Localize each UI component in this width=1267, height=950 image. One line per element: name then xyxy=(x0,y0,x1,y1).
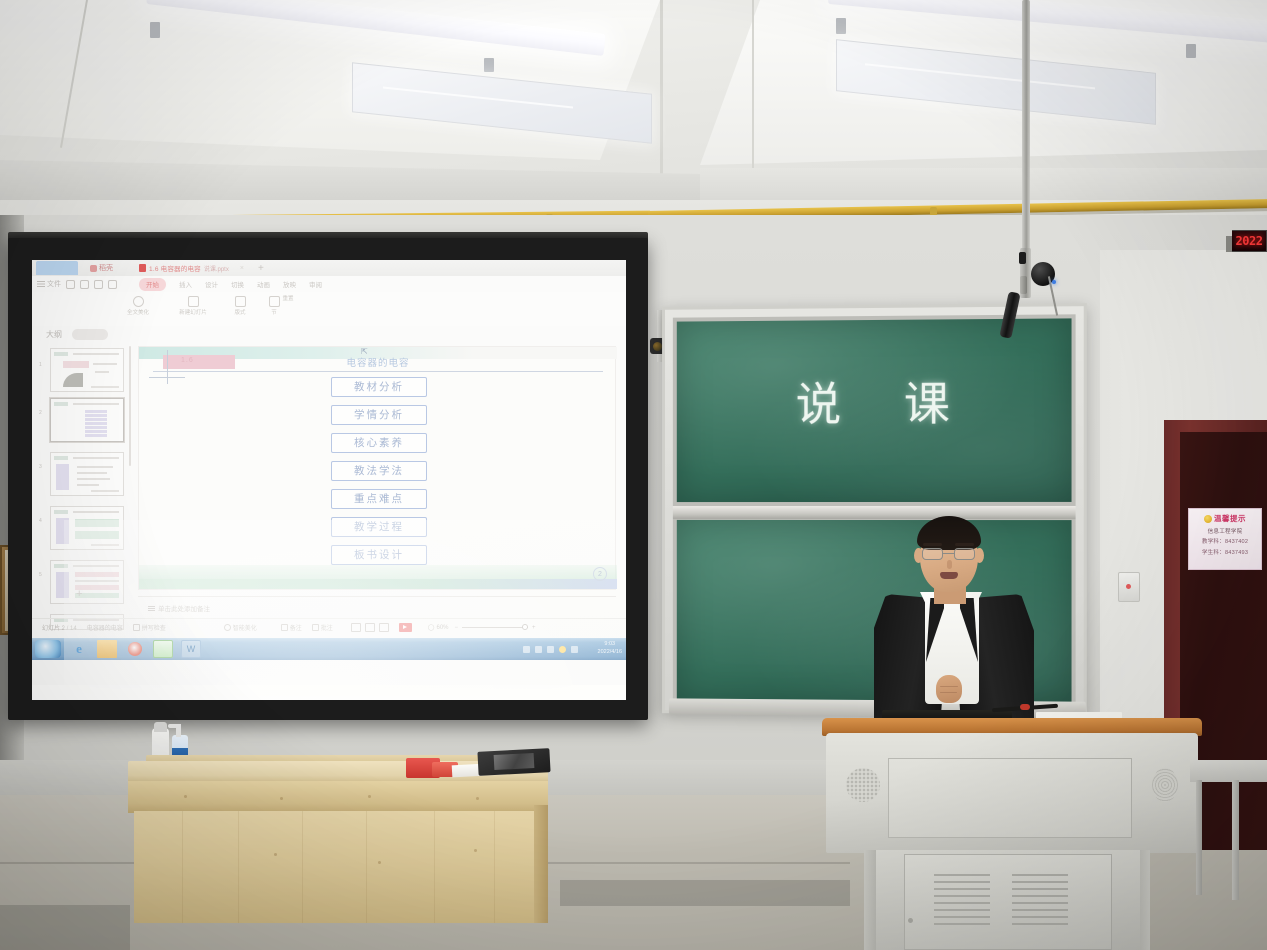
ribbon-tab-transition[interactable]: 切换 xyxy=(231,279,244,289)
clock-date: 2022/4/16 xyxy=(598,648,622,656)
tube-bracket-left-b xyxy=(484,58,494,72)
ribbon-tab-insert[interactable]: 插入 xyxy=(179,279,192,289)
tray-network-icon[interactable] xyxy=(535,646,542,653)
book-cover-art xyxy=(494,753,535,770)
presenter-eyebrow-right xyxy=(955,543,974,546)
smiley-icon xyxy=(1204,515,1212,523)
comment-icon xyxy=(312,624,319,631)
comment-label: 批注 xyxy=(321,623,333,632)
thumb-line xyxy=(75,580,119,582)
slide-menu-item-5[interactable]: 重点难点 xyxy=(331,489,427,509)
document-tab-filename: 1.6 电容器的电容 xyxy=(149,263,201,273)
eyeglasses-bridge xyxy=(943,553,954,554)
fit-window-button[interactable]: ◯ 60% xyxy=(428,624,449,631)
zoom-out-button[interactable]: − xyxy=(455,625,459,631)
desk-knot xyxy=(378,861,381,864)
podium-speaker-right xyxy=(1152,768,1178,802)
podium-lock-icon[interactable] xyxy=(908,918,913,923)
floor-shadow-strip xyxy=(560,880,850,906)
thumb-line xyxy=(73,511,119,513)
ribbon-reset[interactable]: 重置 xyxy=(272,294,304,302)
slide-title-rule xyxy=(153,371,603,372)
ribbon-tab-start[interactable]: 开始 xyxy=(139,278,166,291)
slide-bottom-strip xyxy=(139,579,617,589)
document-tab[interactable]: 1.6 电容器的电容 说课.pptx × xyxy=(139,263,244,273)
clock-time: 9:03 xyxy=(598,640,622,648)
document-tab-ext: 说课.pptx xyxy=(204,264,229,273)
slide-thumbnail-4[interactable] xyxy=(50,506,124,550)
slide-title: 电容器的电容 xyxy=(139,355,617,369)
desk-grain xyxy=(366,811,367,923)
comment-toggle[interactable]: 批注 xyxy=(312,623,333,632)
ribbon-tab-animation[interactable]: 动画 xyxy=(257,279,270,289)
podium-vent xyxy=(1012,916,1068,918)
desk-knot xyxy=(474,849,477,852)
start-slideshow-button[interactable] xyxy=(399,623,412,632)
podium-vent xyxy=(934,916,990,918)
start-button[interactable] xyxy=(35,640,61,658)
spellcheck-label: 拼写检查 xyxy=(142,623,166,632)
side-table-leg-right xyxy=(1232,780,1239,900)
outline-toolbar[interactable]: 大纲 xyxy=(32,326,626,343)
close-tab-icon[interactable]: × xyxy=(240,265,244,272)
smart-beautify-status[interactable]: 智能美化 xyxy=(224,623,257,632)
slide-page-number: 2 xyxy=(593,567,607,581)
fit-icon: ◯ xyxy=(428,624,435,631)
mouse-cursor-icon: ⇱ xyxy=(361,347,368,356)
desk-side-panel xyxy=(534,805,548,923)
presenter xyxy=(868,520,1048,735)
thumb-pink-block xyxy=(63,361,89,368)
wps-presentation-window[interactable]: 稻壳 1.6 电容器的电容 说课.pptx × + 文件 xyxy=(32,260,626,685)
thumb-header xyxy=(54,564,68,568)
notice-line-2: 学生科：8437493 xyxy=(1192,548,1258,556)
file-explorer-icon[interactable] xyxy=(97,640,117,658)
teacher-wooden-desk xyxy=(128,755,548,950)
podium-vent xyxy=(1012,909,1068,911)
notes-toggle-icon xyxy=(281,624,288,631)
tray-shield-icon[interactable] xyxy=(559,646,566,653)
microphone-clip xyxy=(1019,252,1026,264)
internet-explorer-icon[interactable]: e xyxy=(69,640,89,658)
podium-vent xyxy=(934,909,990,911)
multimedia-podium xyxy=(822,718,1202,950)
spellcheck-status[interactable]: 拼写检查 xyxy=(133,623,166,632)
podium-vent xyxy=(1012,923,1068,925)
thumb-footer xyxy=(91,490,119,492)
file-menu-label: 文件 xyxy=(47,279,61,289)
thumb-line xyxy=(77,478,110,480)
thumb-menu-block xyxy=(85,418,107,421)
side-table xyxy=(1190,760,1267,782)
tray-input-icon[interactable] xyxy=(547,646,554,653)
redo-icon[interactable] xyxy=(94,280,103,289)
thumb-menu-block xyxy=(85,410,107,413)
desk-grain xyxy=(302,811,303,923)
slide-thumbnail-1[interactable] xyxy=(50,348,124,392)
spellcheck-icon xyxy=(133,624,140,631)
slide-guide-vertical xyxy=(167,350,168,384)
ribbon-layout-label: 版式 xyxy=(234,310,245,316)
podium-vent xyxy=(934,902,990,904)
docer-icon xyxy=(90,265,97,272)
wps-ribbon-tabstrip[interactable]: 文件 开始 插入 设计 切换 动画 放映 审阅 xyxy=(32,276,626,292)
beautify-icon xyxy=(133,296,144,307)
thumb-pink-row xyxy=(75,572,119,577)
podium-microphone-tip-icon xyxy=(1020,704,1030,710)
podium-speaker-left xyxy=(846,768,880,802)
ppt-file-icon xyxy=(139,264,146,272)
microphone-neck xyxy=(1020,276,1027,294)
thumb-sidebar-block xyxy=(56,464,69,490)
desk-front-rail xyxy=(128,781,548,813)
windows-taskbar[interactable]: e W 9:03 2022/4/16 xyxy=(32,638,626,660)
thumb-menu-block xyxy=(85,434,107,437)
hamburger-icon xyxy=(37,281,45,287)
zoom-slider-knob[interactable] xyxy=(522,624,528,630)
zoom-slider-track xyxy=(462,627,528,628)
camera-lens-icon xyxy=(653,342,662,351)
thumb-header xyxy=(54,402,68,406)
wps-status-bar[interactable]: 幻灯片 2 / 14 电容器的电容 拼写检查 智能美化 备注 批注 xyxy=(32,618,626,636)
thumbnail-number: 3 xyxy=(39,464,42,470)
notes-toggle-label: 备注 xyxy=(290,623,302,632)
zoom-slider[interactable] xyxy=(462,627,528,628)
slide-menu-item-3[interactable]: 核心素养 xyxy=(331,433,427,453)
notes-icon xyxy=(148,606,155,611)
thumbnail-number: 1 xyxy=(39,362,42,368)
wps-ribbon-panel[interactable]: 全文美化 新建幻灯片 版式 节 重置 xyxy=(32,292,626,326)
add-slide-button[interactable]: + xyxy=(76,588,82,600)
ribbon-tab-slideshow[interactable]: 放映 xyxy=(283,279,296,289)
play-icon xyxy=(399,623,412,632)
ribbon-new-slide[interactable]: 新建幻灯片 xyxy=(168,296,218,316)
floor-shadow-corner xyxy=(0,905,130,950)
presenter-mouth xyxy=(940,572,958,579)
slide-menu-item-7[interactable]: 板书设计 xyxy=(331,545,427,565)
view-sorter-button[interactable] xyxy=(365,623,375,632)
reading-view-icon xyxy=(379,623,389,632)
wps-home-tab[interactable] xyxy=(36,261,78,275)
podium-vent xyxy=(1012,881,1068,883)
wps-office-icon[interactable]: W xyxy=(181,640,201,658)
notice-org: 信息工程学院 xyxy=(1192,527,1258,535)
document-name-status: 电容器的电容 xyxy=(87,623,123,632)
thumb-line xyxy=(73,457,119,459)
thumb-line xyxy=(77,472,107,474)
tube-bracket-right-a xyxy=(836,18,846,34)
presenter-eyebrow-left xyxy=(923,543,942,546)
panel-sheen-left xyxy=(383,86,573,108)
slide-sorter-icon xyxy=(365,623,375,632)
new-slide-icon xyxy=(188,296,199,307)
podium-vent xyxy=(1012,874,1068,876)
slide-menu-item-4[interactable]: 教法学法 xyxy=(331,461,427,481)
notice-title: 温馨提示 xyxy=(1214,513,1246,524)
thumb-footer xyxy=(91,544,119,546)
thumb-sidebar-block xyxy=(56,572,69,598)
notes-placeholder[interactable]: 单击此处添加备注 xyxy=(148,603,210,613)
ribbon-layout[interactable]: 版式 xyxy=(224,296,256,316)
thumb-header xyxy=(54,352,68,356)
thumb-green-block xyxy=(75,519,119,527)
podium-vent xyxy=(934,881,990,883)
view-normal-button[interactable] xyxy=(351,623,361,632)
outline-mode-pill[interactable] xyxy=(72,329,108,340)
zoom-in-button[interactable]: + xyxy=(532,625,536,631)
wps-brand[interactable]: 稻壳 xyxy=(90,263,113,273)
slide-position-indicator: 幻灯片 2 / 14 xyxy=(42,623,77,632)
notice-title-row: 温馨提示 xyxy=(1192,513,1258,524)
thumb-sidebar-block xyxy=(56,518,69,544)
tube-bracket-right-b xyxy=(1186,44,1196,58)
thumb-line xyxy=(73,353,119,355)
blackboard-middle-rail xyxy=(673,506,1076,519)
thumbnail-number: 4 xyxy=(39,518,42,524)
undo-icon[interactable] xyxy=(80,280,89,289)
sanitizer-nozzle xyxy=(168,724,181,728)
panel-sheen-right xyxy=(865,63,1095,89)
slide-menu-item-1[interactable]: 教材分析 xyxy=(331,377,427,397)
slide-thumbnail-3[interactable] xyxy=(50,452,124,496)
slide-canvas[interactable]: 1.6 电容器的电容 ⇱ 教材分析 学情分析 核心素养 教法学法 重点难点 教学… xyxy=(138,346,616,590)
thumbnail-scrollbar[interactable] xyxy=(129,346,131,466)
slide-menu-item-2[interactable]: 学情分析 xyxy=(331,405,427,425)
microphone-pole-upper xyxy=(1022,0,1030,250)
media-player-icon[interactable] xyxy=(125,640,145,658)
desk-rail-knot xyxy=(476,797,479,800)
thumb-line xyxy=(95,371,109,373)
view-reading-button[interactable] xyxy=(379,623,389,632)
wps-title-bar: 稻壳 1.6 电容器的电容 说课.pptx × + xyxy=(32,260,626,276)
side-table-leg-left xyxy=(1196,780,1202,895)
tube-bracket-left-a xyxy=(150,22,160,38)
podium-vent xyxy=(934,895,990,897)
slide-guide-horizontal xyxy=(149,377,185,378)
microphone-led-icon xyxy=(1052,280,1056,284)
thumb-menu-block xyxy=(85,426,107,429)
ribbon-tab-design[interactable]: 设计 xyxy=(205,279,218,289)
thumb-green-block xyxy=(75,531,119,539)
slide-thumbnail-5[interactable] xyxy=(50,560,124,604)
new-tab-button[interactable]: + xyxy=(258,263,264,274)
thumbnail-number: 2 xyxy=(39,410,42,416)
notes-placeholder-text: 单击此处添加备注 xyxy=(158,603,210,613)
podium-vent xyxy=(934,923,990,925)
projection-screen[interactable]: 稻壳 1.6 电容器的电容 说课.pptx × + 文件 xyxy=(32,260,626,700)
smart-beautify-icon xyxy=(224,624,231,631)
door-notice-sign: 温馨提示 信息工程学院 教学科：8437402 学生科：8437493 xyxy=(1188,508,1262,570)
podium-front-panel xyxy=(888,758,1132,838)
normal-view-icon xyxy=(351,623,361,632)
ribbon-beautify-label: 全文美化 xyxy=(127,310,149,316)
thumb-shape xyxy=(63,373,83,387)
podium-vent xyxy=(934,874,990,876)
powerpoint-icon[interactable] xyxy=(153,640,173,658)
eyeglasses-left-lens xyxy=(922,548,943,560)
presenter-hand xyxy=(936,675,962,703)
thumb-line xyxy=(73,565,119,567)
led-display-sign: 2022 xyxy=(1232,230,1267,252)
bottle-cap-white xyxy=(154,722,167,732)
desk-grain xyxy=(434,811,435,923)
thumb-header xyxy=(54,510,68,514)
ribbon-reset-label: 重置 xyxy=(282,296,293,302)
notes-separator xyxy=(138,596,616,597)
file-menu-button[interactable]: 文件 xyxy=(37,279,61,289)
thumb-header xyxy=(54,456,68,460)
led-sign-text: 2022 xyxy=(1236,234,1263,248)
layout-icon xyxy=(235,296,246,307)
blackboard-panel-upper: 说 课 xyxy=(677,318,1072,502)
save-icon[interactable] xyxy=(66,280,75,289)
notice-line-1: 教学科：8437402 xyxy=(1192,537,1258,545)
podium-vent xyxy=(934,888,990,890)
print-icon[interactable] xyxy=(108,280,117,289)
podium-vent xyxy=(1012,902,1068,904)
ribbon-new-slide-label: 新建幻灯片 xyxy=(179,310,207,316)
presenter-nose xyxy=(947,560,952,569)
classroom-scene: 2022 稻壳 1.6 电容器的电容 说课.pptx × + xyxy=(0,0,1267,950)
desk-front-panel xyxy=(134,811,542,923)
thumb-footer xyxy=(91,386,119,388)
outline-label: 大纲 xyxy=(46,329,62,340)
thumbnail-number: 5 xyxy=(39,572,42,578)
podium-vent xyxy=(1012,888,1068,890)
podium-vent xyxy=(1012,895,1068,897)
ribbon-section-label: 节 xyxy=(271,310,277,316)
slide-thumbnail-2[interactable] xyxy=(50,398,124,442)
switch-indicator-icon xyxy=(1126,584,1131,589)
ribbon-beautify[interactable]: 全文美化 xyxy=(116,296,160,316)
system-tray[interactable] xyxy=(523,646,578,653)
smart-beautify-label: 智能美化 xyxy=(233,623,257,632)
notes-toggle[interactable]: 备注 xyxy=(281,623,302,632)
zoom-level-label: 60% xyxy=(436,625,448,631)
desk-knot xyxy=(274,853,277,856)
wps-brand-label: 稻壳 xyxy=(99,263,113,273)
desk-grain xyxy=(182,811,183,923)
taskbar-clock[interactable]: 9:03 2022/4/16 xyxy=(598,640,622,656)
desk-rail-knot xyxy=(368,795,371,798)
ribbon-tab-review[interactable]: 审阅 xyxy=(309,279,322,289)
thumb-menu-block xyxy=(85,422,107,425)
presenter-ear-right xyxy=(975,548,984,563)
thumb-line xyxy=(93,363,117,365)
tray-volume-icon[interactable] xyxy=(571,646,578,653)
thumb-line xyxy=(77,484,99,486)
thumb-line xyxy=(77,466,113,468)
ceiling-seam-3 xyxy=(752,0,754,168)
thumb-line xyxy=(73,403,119,405)
ceiling-seam-2 xyxy=(660,0,663,175)
tray-arrow-icon[interactable] xyxy=(523,646,530,653)
desk-rail-knot xyxy=(280,797,283,800)
slide-menu-item-6[interactable]: 教学过程 xyxy=(331,517,427,537)
blackboard-chalk-text: 说 课 xyxy=(677,367,1072,435)
thumb-menu-block xyxy=(85,414,107,417)
eyeglasses-right-lens xyxy=(954,548,975,560)
desk-grain xyxy=(238,811,239,923)
desk-rail-knot xyxy=(184,795,187,798)
thumb-menu-block xyxy=(85,430,107,433)
desk-grain xyxy=(494,811,495,923)
